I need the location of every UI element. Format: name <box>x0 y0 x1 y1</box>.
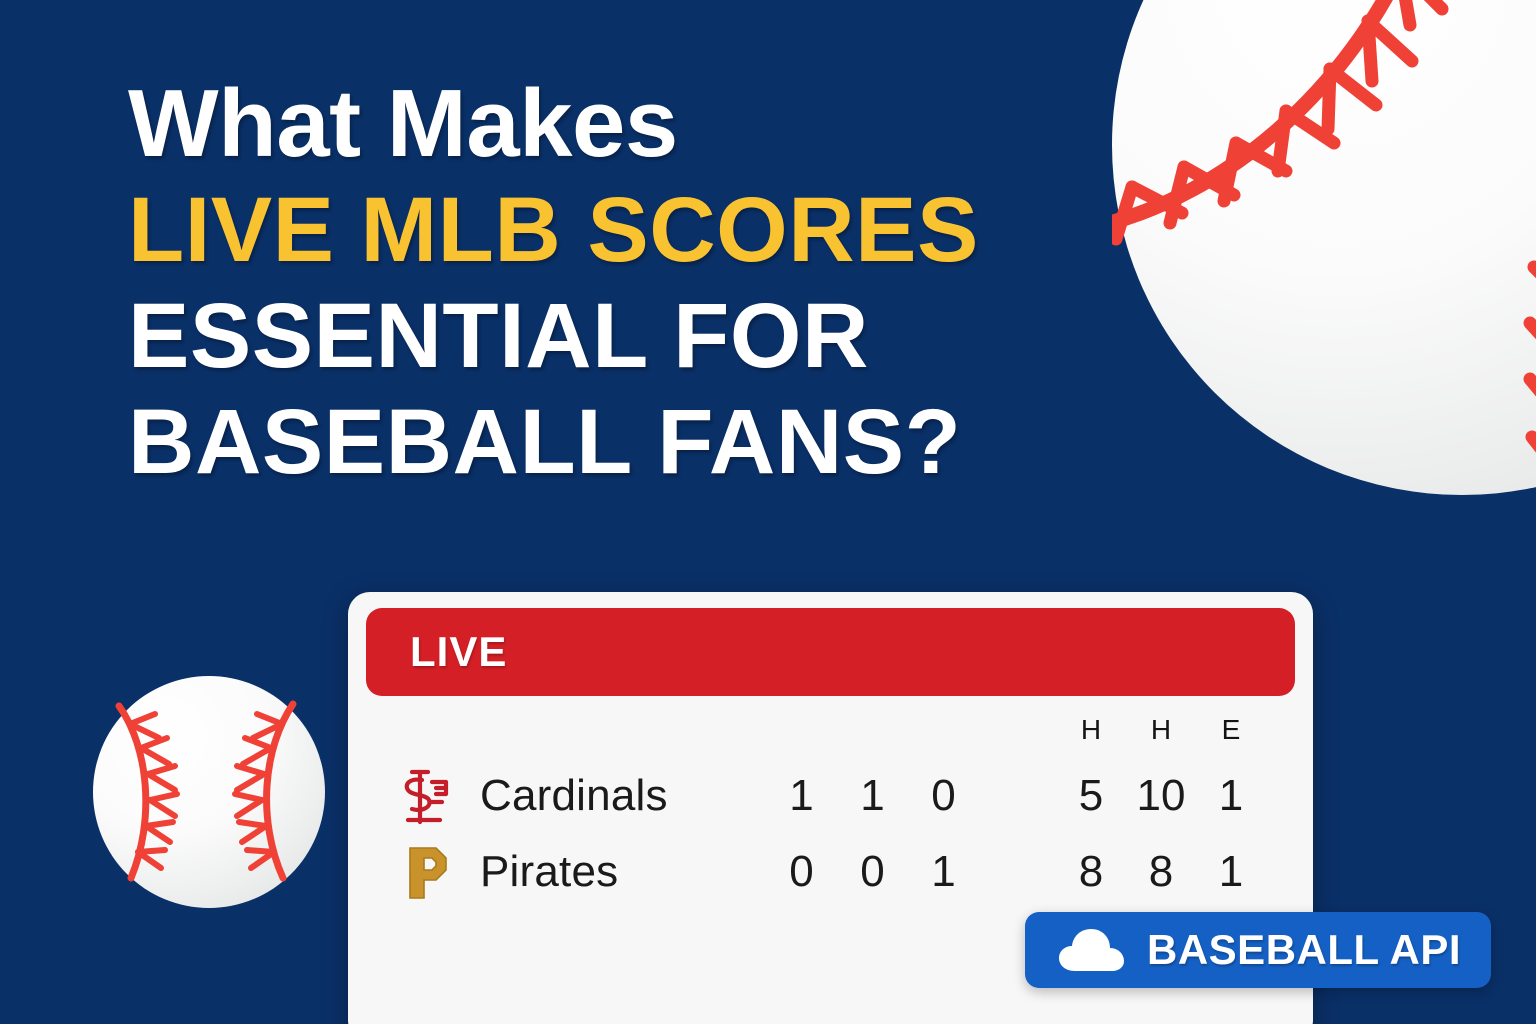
total-h2: 10 <box>1126 771 1196 821</box>
inning-scores: 0 0 1 <box>766 847 979 897</box>
totals: 5 10 1 <box>1056 771 1266 821</box>
total-h1: 5 <box>1056 771 1126 821</box>
scoreboard-column-headers: H H E <box>1056 714 1266 746</box>
poster-canvas: What Makes LIVE MLB SCORES ESSENTIAL FOR… <box>0 0 1536 1024</box>
inning-2: 0 <box>837 847 908 897</box>
headline-line-2-highlight: LIVE MLB SCORES <box>128 184 1108 276</box>
baseball-api-label: BASEBALL API <box>1147 926 1461 974</box>
cardinals-logo-icon <box>396 764 454 828</box>
baseball-icon-small <box>93 676 325 908</box>
headline-line-1: What Makes <box>128 76 1108 172</box>
inning-3: 1 <box>908 847 979 897</box>
cloud-icon <box>1059 927 1125 973</box>
total-h1: 8 <box>1056 847 1126 897</box>
inning-2: 1 <box>837 771 908 821</box>
headline-line-3: ESSENTIAL FOR <box>128 290 1108 382</box>
total-h2: 8 <box>1126 847 1196 897</box>
inning-3: 0 <box>908 771 979 821</box>
live-status-label: LIVE <box>410 628 507 676</box>
pirates-logo-icon <box>396 840 454 904</box>
totals: 8 8 1 <box>1056 847 1266 897</box>
column-header-e: E <box>1196 714 1266 746</box>
team-name: Pirates <box>480 847 618 897</box>
column-header-h1: H <box>1056 714 1126 746</box>
inning-scores: 1 1 0 <box>766 771 979 821</box>
baseball-icon-large <box>1112 0 1536 495</box>
live-status-banner: LIVE <box>366 608 1295 696</box>
baseball-api-badge[interactable]: BASEBALL API <box>1025 912 1491 988</box>
table-row[interactable]: Cardinals 1 1 0 5 10 1 <box>348 758 1313 834</box>
total-e: 1 <box>1196 847 1266 897</box>
team-name: Cardinals <box>480 771 668 821</box>
total-e: 1 <box>1196 771 1266 821</box>
inning-1: 1 <box>766 771 837 821</box>
headline: What Makes LIVE MLB SCORES ESSENTIAL FOR… <box>128 76 1108 502</box>
headline-line-4: BASEBALL FANS? <box>128 396 1108 488</box>
inning-1: 0 <box>766 847 837 897</box>
column-header-h2: H <box>1126 714 1196 746</box>
table-row[interactable]: Pirates 0 0 1 8 8 1 <box>348 834 1313 910</box>
